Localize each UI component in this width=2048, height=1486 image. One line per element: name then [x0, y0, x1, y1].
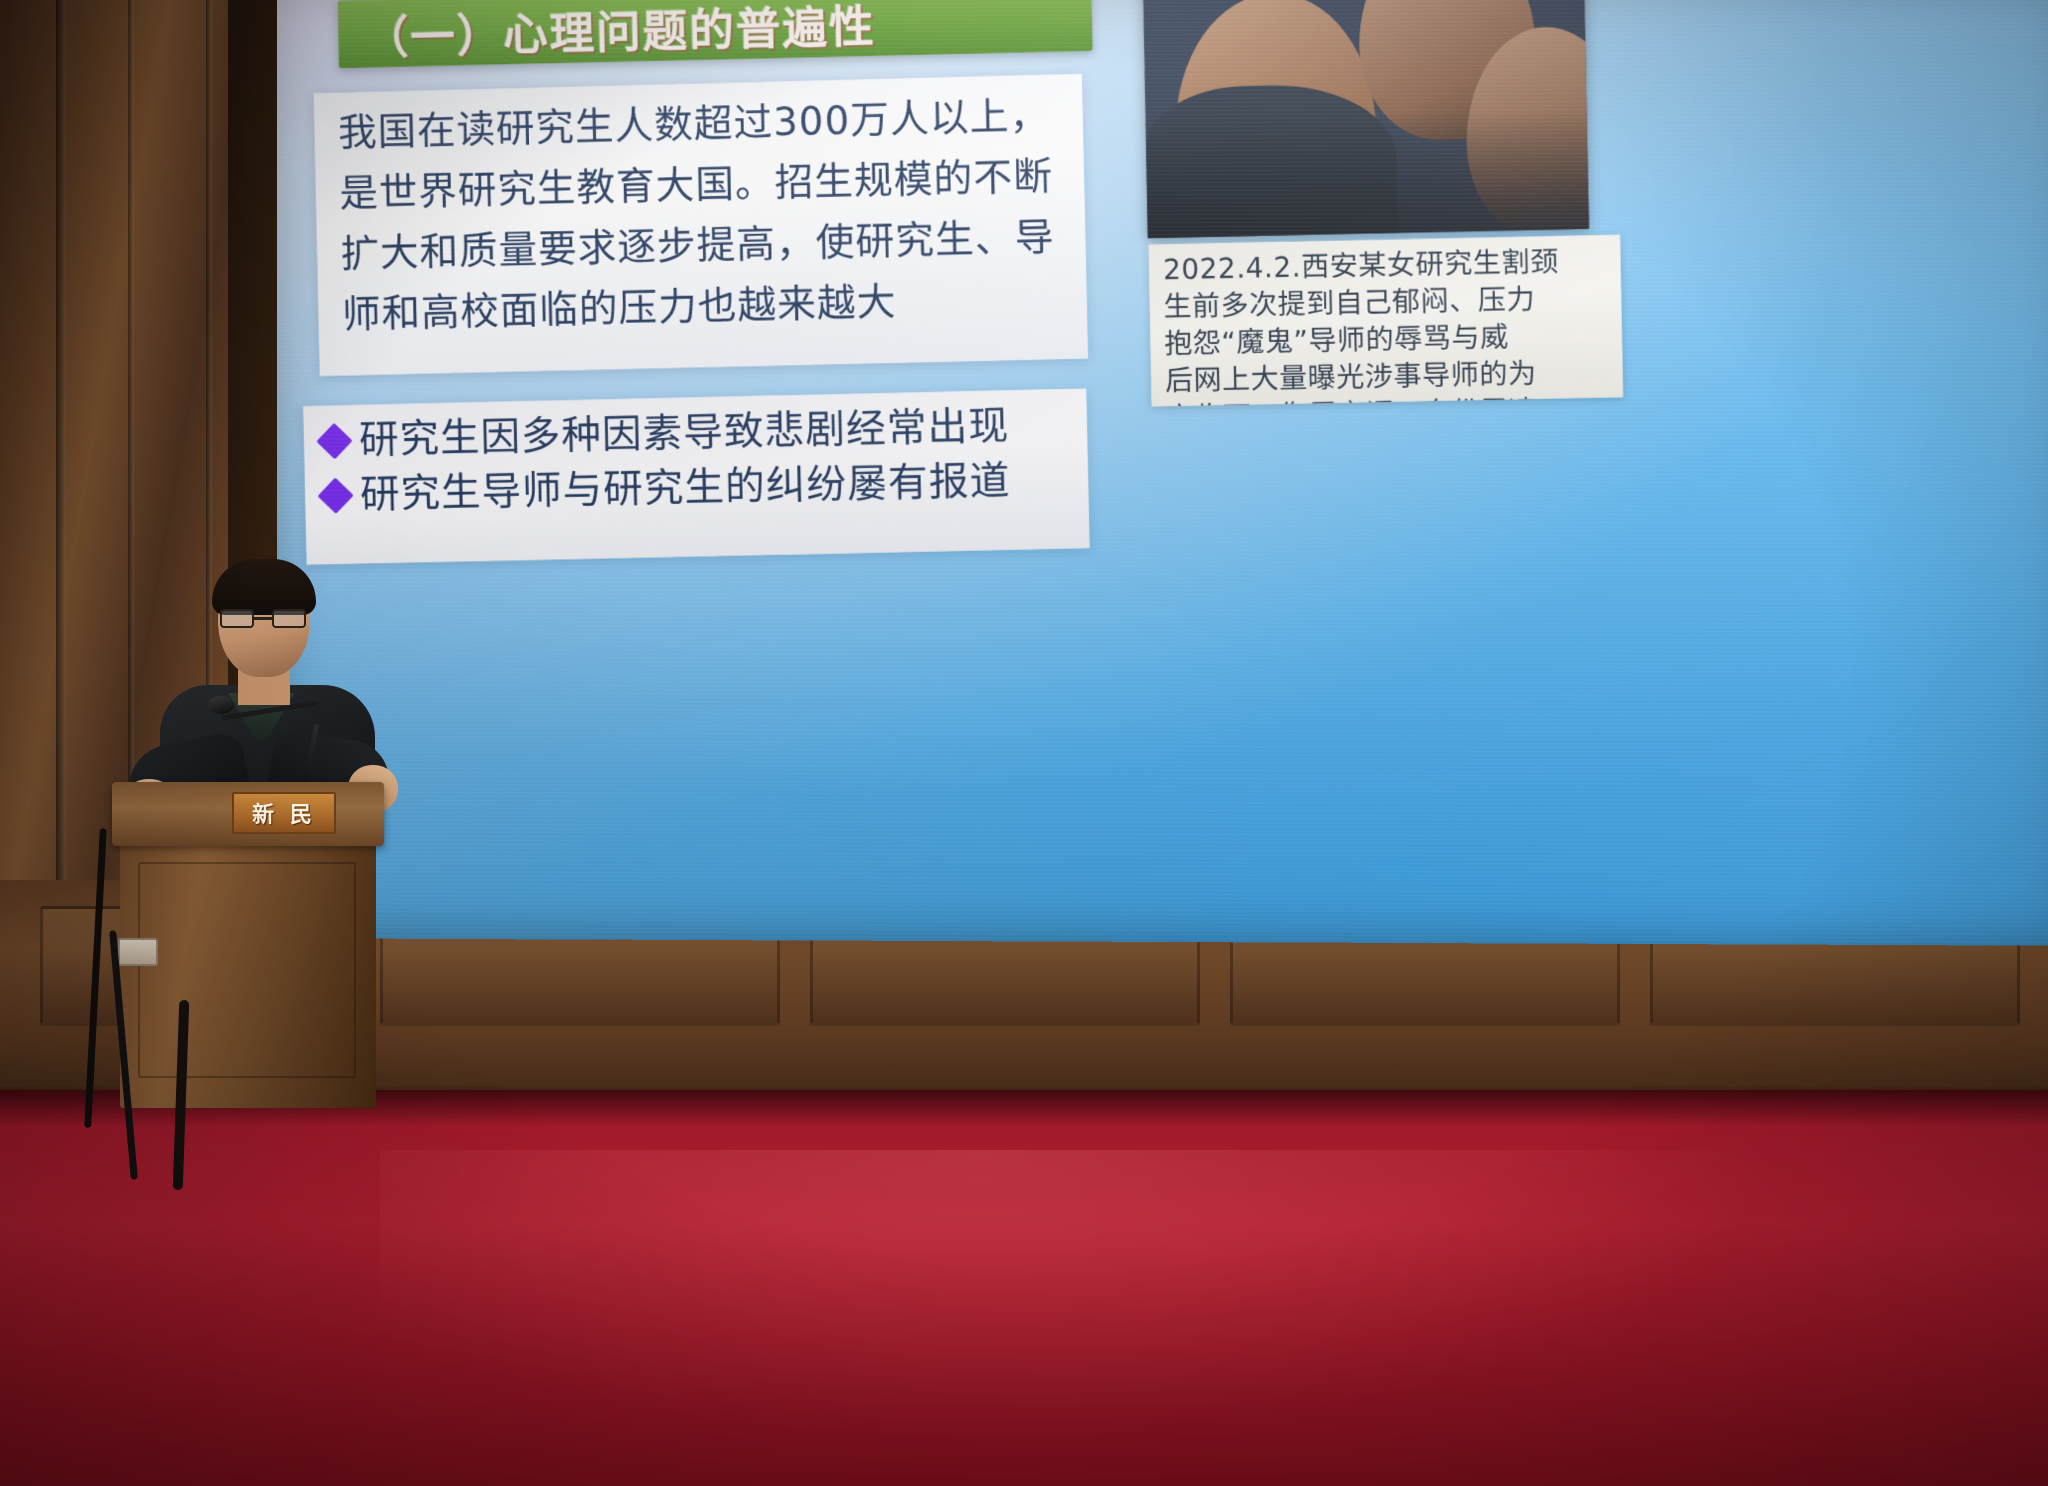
presentation-photo-scene: （一）心理问题的普遍性 我国在读研究生人数超过300万人以上， 是世界研究生教育…	[0, 0, 2048, 1486]
paragraph-line: 师和高校面临的压力也越来越大	[341, 271, 1079, 345]
news-photo	[1142, 0, 1589, 238]
microphone-head-icon	[208, 696, 234, 714]
photo-shadow	[1145, 108, 1589, 238]
diamond-bullet-icon	[318, 478, 354, 514]
slide-title-bar: （一）心理问题的普遍性	[338, 0, 1093, 68]
projection-screen: （一）心理问题的普遍性 我国在读研究生人数超过300万人以上， 是世界研究生教育…	[277, 0, 2048, 946]
slide-bullet-card: 研究生因多种因素导致悲剧经常出现 研究生导师与研究生的纠纷屡有报道	[303, 388, 1090, 564]
lectern-body	[120, 840, 376, 1108]
speaker-hair	[212, 559, 316, 615]
slide-title-text: （一）心理问题的普遍性	[338, 0, 877, 67]
eyeglasses-icon	[220, 609, 306, 629]
list-item: 研究生导师与研究生的纠纷屡有报道	[322, 455, 1078, 520]
nameplate: 新 民	[232, 792, 336, 834]
red-carpet-floor	[0, 1090, 2048, 1486]
nameplate-text: 新 民	[252, 797, 316, 829]
bullet-text: 研究生导师与研究生的纠纷屡有报道	[360, 457, 1011, 520]
bullet-text: 研究生因多种因素导致悲剧经常出现	[359, 402, 1010, 465]
wall-socket	[118, 938, 158, 966]
diamond-bullet-icon	[316, 423, 352, 459]
slide-paragraph-card: 我国在读研究生人数超过300万人以上， 是世界研究生教育大国。招生规模的不断 扩…	[314, 74, 1088, 376]
list-item: 研究生因多种因素导致悲剧经常出现	[321, 401, 1077, 466]
news-caption-box: 2022.4.2.西安某女研究生割颈 生前多次提到自己郁闷、压力 抱怨“魔鬼”导…	[1148, 235, 1623, 407]
